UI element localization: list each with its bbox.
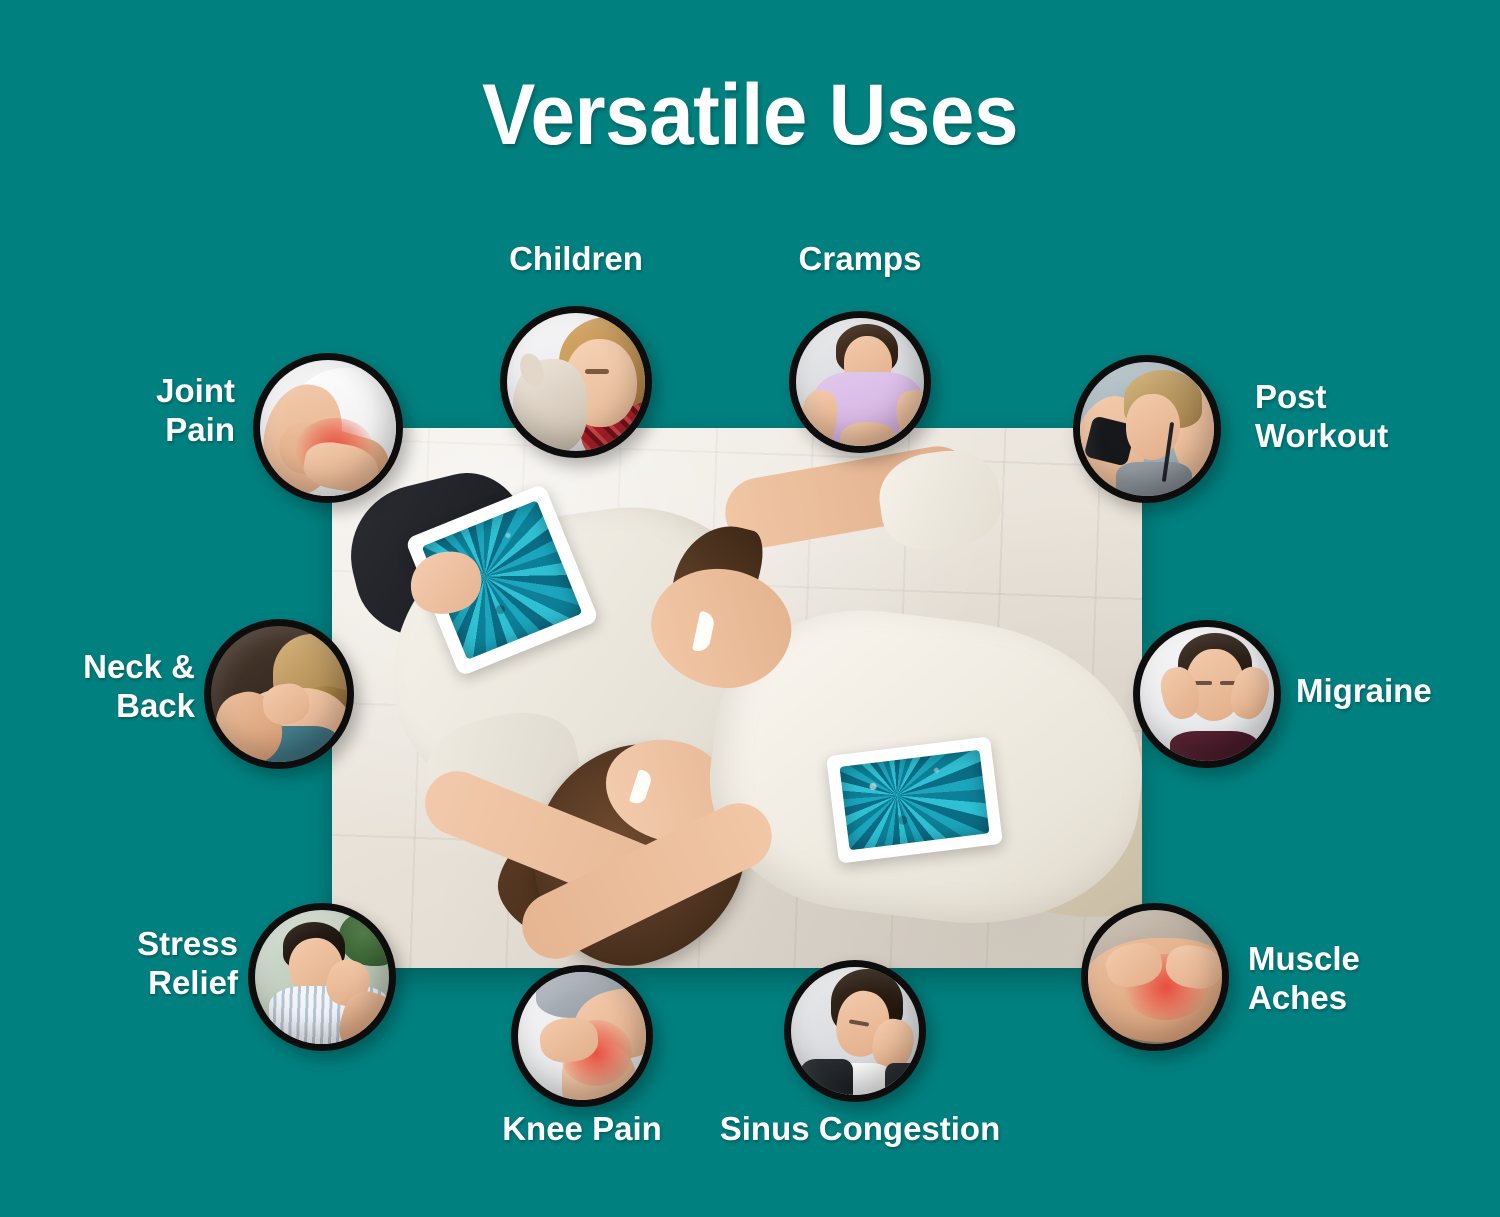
use-label-migraine: Migraine	[1296, 672, 1496, 711]
use-circle-joint-pain[interactable]	[253, 353, 403, 503]
elbow-pain-photo	[260, 360, 396, 496]
use-circle-neck-back[interactable]	[204, 619, 354, 769]
abdominal-cramps-photo	[796, 318, 924, 446]
gel-beads-man	[839, 750, 989, 851]
use-circle-migraine[interactable]	[1133, 620, 1281, 768]
gel-pack-man	[826, 736, 1003, 863]
use-circle-stress-relief[interactable]	[248, 903, 396, 1051]
infographic-canvas: Versatile Uses	[0, 0, 1500, 1217]
stressed-man-photo	[255, 910, 389, 1044]
hero-product-photo	[332, 428, 1142, 968]
knee-pain-photo	[518, 972, 646, 1100]
use-circle-post-workout[interactable]	[1073, 355, 1221, 503]
use-label-children: Children	[446, 240, 706, 279]
use-label-knee-pain: Knee Pain	[452, 1110, 712, 1149]
use-circle-sinus-congestion[interactable]	[784, 960, 926, 1102]
use-circle-cramps[interactable]	[789, 311, 931, 453]
use-label-muscle-aches: Muscle Aches	[1248, 940, 1468, 1018]
use-circle-children[interactable]	[500, 306, 652, 458]
migraine-headache-photo	[1140, 627, 1274, 761]
use-label-sinus-congestion: Sinus Congestion	[700, 1110, 1020, 1149]
use-label-stress-relief: Stress Relief	[60, 925, 238, 1003]
neck-back-pain-photo	[211, 626, 347, 762]
sinus-pain-photo	[791, 967, 919, 1095]
child-sleeping-photo	[507, 313, 645, 451]
page-title: Versatile Uses	[53, 72, 1448, 158]
use-label-joint-pain: Joint Pain	[60, 372, 235, 450]
workout-woman-photo	[1080, 362, 1214, 496]
use-label-post-workout: Post Workout	[1255, 378, 1485, 456]
use-circle-muscle-aches[interactable]	[1081, 903, 1229, 1051]
use-label-cramps: Cramps	[730, 240, 990, 279]
muscle-massage-photo	[1088, 910, 1222, 1044]
use-label-neck-back: Neck & Back	[20, 648, 195, 726]
use-circle-knee-pain[interactable]	[511, 965, 653, 1107]
